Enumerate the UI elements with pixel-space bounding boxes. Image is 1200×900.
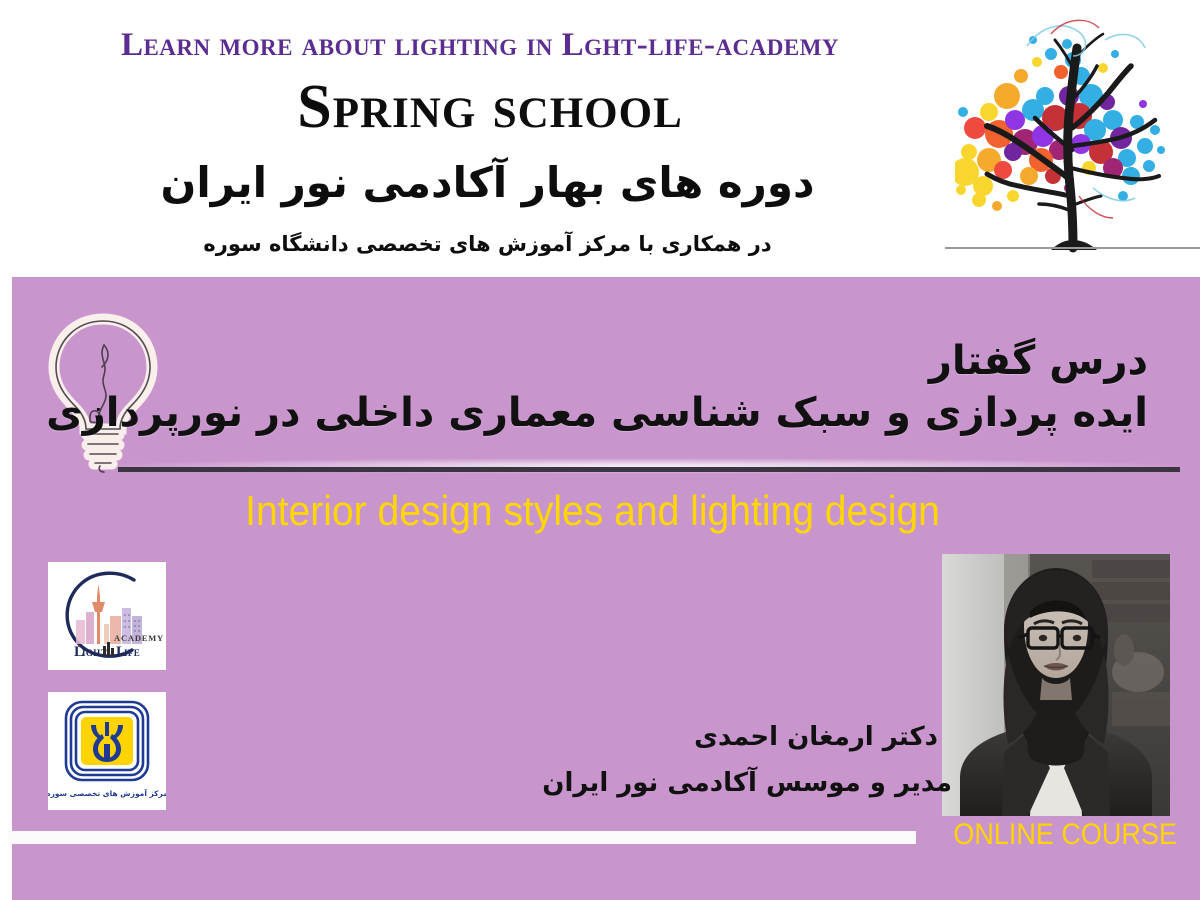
speaker-role-farsi: مدیر و موسس آکادمی نور ایران (542, 768, 952, 798)
header-tagline: Learn more about lighting in Lght-life-a… (0, 27, 960, 64)
divider-rule (118, 467, 1180, 472)
tree-baseline-rule (945, 247, 1200, 249)
poster-canvas: Learn more about lighting in Lght-life-a… (0, 0, 1200, 900)
light-life-academy-logo: L IGHT L IFE ACADEMY (48, 562, 166, 670)
lecture-title-farsi: ایده پردازی و سبک شناسی معماری داخلی در … (46, 390, 1148, 436)
soore-logo-caption: مرکز آموزش های تخصصی سوره (48, 788, 166, 798)
page-title: Spring school (0, 72, 980, 143)
speaker-portrait-photo (942, 554, 1170, 816)
soore-training-center-logo: مرکز آموزش های تخصصی سوره (48, 692, 166, 810)
header-subtitle-farsi: در همکاری با مرکز آموزش های تخصصی دانشگا… (0, 232, 975, 256)
splatter-tree-icon (955, 0, 1200, 265)
bottom-accent-bar (8, 831, 916, 844)
course-subtitle-english: Interior design styles and lighting desi… (41, 487, 1143, 535)
svg-text:IFE: IFE (124, 648, 140, 658)
svg-text:ACADEMY: ACADEMY (114, 633, 164, 643)
speaker-name-farsi: دکتر ارمغان احمدی (694, 722, 938, 752)
page-title-farsi: دوره های بهار آکادمی نور ایران (0, 158, 975, 207)
status-badge: ONLINE COURSE (953, 818, 1158, 852)
lecture-label-farsi: درس گفتار (929, 338, 1148, 384)
